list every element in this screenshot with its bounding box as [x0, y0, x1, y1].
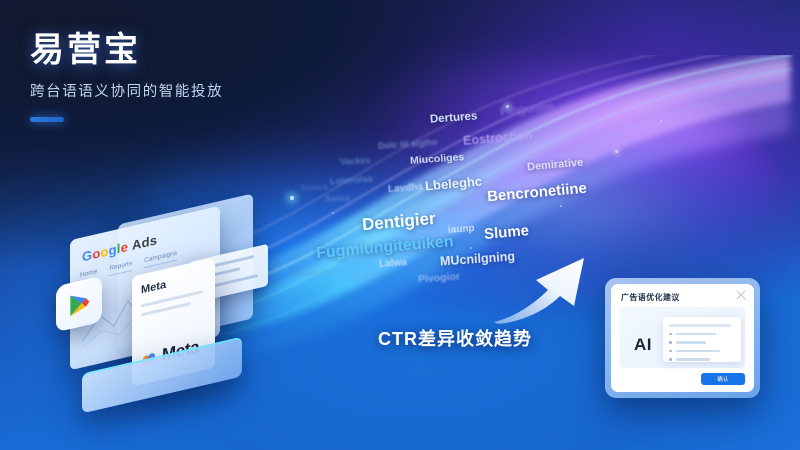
wordcloud-term: Mogeco	[296, 267, 330, 279]
sparkle-particle	[660, 120, 662, 122]
wordcloud-term: Flnguoim	[499, 99, 554, 119]
list-item[interactable]	[669, 333, 735, 336]
ai-suggestion-frame: 广告语优化建议 AI 确认	[605, 278, 760, 398]
logo-letter: g	[109, 242, 117, 259]
google-play-glyph-icon	[66, 288, 92, 320]
placeholder-line	[669, 324, 731, 327]
logo-suffix: Ads	[132, 232, 157, 253]
sparkle-particle	[560, 205, 562, 207]
logo-letter: G	[82, 247, 92, 264]
wordcloud-term: Dolc bt aiglho	[378, 137, 438, 151]
wordcloud-term: Dentigier	[361, 209, 436, 235]
wordcloud-term: Lolorolsa	[330, 174, 373, 188]
ai-panel-body: AI	[620, 307, 745, 368]
bullet-dot-icon	[669, 358, 672, 361]
wordcloud-term: Ltourgidanemmict	[403, 200, 486, 217]
wordcloud-term: iaunp	[448, 223, 475, 236]
sparkle-particle	[332, 212, 334, 214]
wordcloud-term: Pivogior	[418, 271, 461, 286]
sparkle-particle	[470, 247, 472, 249]
page-subtitle: 跨台语语义协同的智能投放	[30, 80, 223, 101]
wordcloud-term: Saoca	[325, 192, 351, 203]
wordcloud-term: Miucoliges	[410, 151, 465, 167]
placeholder-line	[676, 350, 720, 353]
wordcloud-term: Slume	[483, 222, 529, 243]
list-item[interactable]	[669, 358, 735, 361]
bullet-dot-icon	[669, 333, 672, 336]
logo-letter: e	[121, 239, 128, 256]
bullet-dot-icon	[669, 341, 672, 344]
ctr-trend-label: CTR差异收敛趋势	[378, 325, 532, 351]
close-icon[interactable]	[736, 290, 746, 300]
confirm-button[interactable]: 确认	[701, 373, 745, 385]
header-block: 易营宝 跨台语语义协同的智能投放	[30, 22, 223, 122]
list-item[interactable]	[669, 324, 735, 327]
logo-letter: o	[100, 243, 108, 260]
tab-reports[interactable]: Reports	[109, 260, 132, 276]
wordcloud-term: Lbeleghc	[424, 174, 482, 194]
list-item[interactable]	[669, 341, 735, 344]
ai-suggestion-panel[interactable]: 广告语优化建议 AI 确认	[611, 284, 754, 392]
placeholder-line	[676, 341, 706, 344]
slide-canvas: 易营宝 跨台语语义协同的智能投放 DerturesFlnguoimEostroc…	[0, 0, 800, 450]
placeholder-line	[676, 358, 710, 361]
wordcloud-term: Lolsta	[352, 269, 379, 280]
accent-bar	[30, 117, 64, 122]
bullet-dot-icon	[669, 350, 672, 353]
wordcloud-term: Demirative	[527, 157, 584, 174]
ai-label: AI	[634, 335, 652, 355]
wordcloud-term: Bencronetiine	[486, 180, 587, 206]
wordcloud-term: Sotacs	[300, 181, 328, 192]
ai-suggestion-list[interactable]	[663, 317, 741, 362]
sparkle-particle	[290, 196, 294, 200]
list-item[interactable]	[669, 350, 735, 353]
tab-campaigns[interactable]: Campaigns	[144, 250, 177, 269]
wordcloud-term: Eostroction	[463, 128, 533, 148]
wordcloud-term: Lavdha	[388, 182, 424, 195]
ai-panel-title: 广告语优化建议	[621, 292, 680, 303]
meta-card-label: Meta	[141, 279, 166, 297]
sparkle-particle	[506, 105, 509, 108]
wordcloud-term: Vackes	[340, 155, 371, 167]
wordcloud-term: Fugmlungiteuiken	[315, 233, 454, 263]
wordcloud-term: Dertures	[430, 110, 478, 125]
curved-arrow-up-right-icon	[492, 252, 592, 324]
wordcloud-term: Lalwa	[379, 257, 407, 270]
sparkle-particle	[615, 150, 618, 153]
platform-device-stack: GoogleAds Home Reports Campaigns Meta	[60, 205, 290, 400]
placeholder-line	[676, 333, 716, 336]
page-title: 易营宝	[30, 22, 223, 71]
